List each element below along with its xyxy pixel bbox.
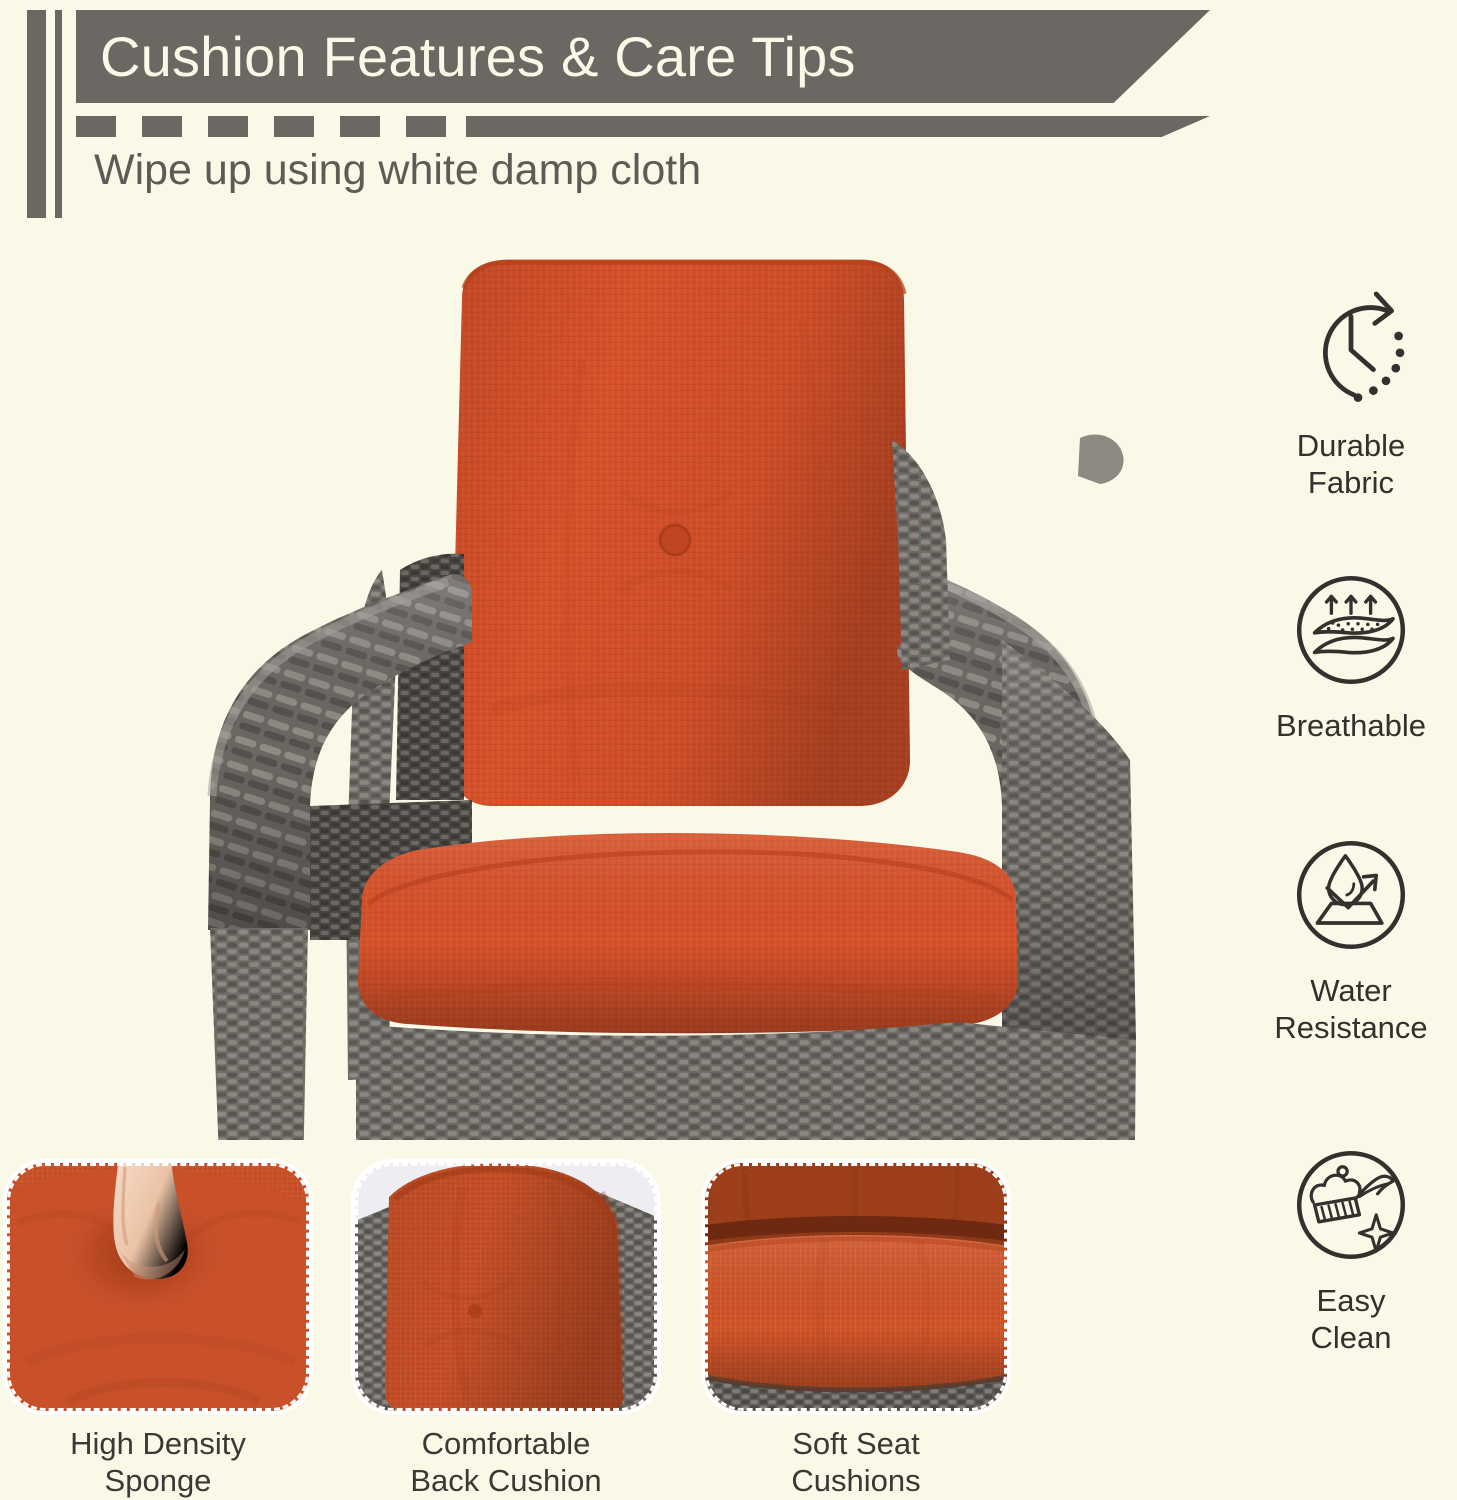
thumbnail-image bbox=[355, 1163, 657, 1411]
rule-dash bbox=[340, 116, 380, 137]
feature-label: Breathable bbox=[1276, 708, 1426, 745]
header-dashed-rule bbox=[76, 116, 1210, 137]
chair-base-skirt bbox=[356, 1022, 1136, 1140]
feature-icon-list: Durable Fabric bbox=[1245, 280, 1457, 1440]
page-subtitle: Wipe up using white damp cloth bbox=[94, 147, 701, 194]
feature-label: Durable Fabric bbox=[1297, 428, 1406, 501]
page-header: Cushion Features & Care Tips Wipe up usi… bbox=[0, 0, 1457, 240]
feature-item-breathable: Breathable bbox=[1245, 560, 1457, 745]
rule-dash bbox=[274, 116, 314, 137]
thumbnail-image bbox=[7, 1163, 309, 1411]
scrub-brush-icon bbox=[1281, 1135, 1421, 1275]
breathable-fabric-icon bbox=[1281, 560, 1421, 700]
thumbnail-row: High Density Sponge bbox=[0, 1163, 1020, 1500]
thumbnail-caption: Comfortable Back Cushion bbox=[336, 1425, 676, 1499]
header-accent-bar-thin bbox=[55, 10, 62, 218]
main-product-image bbox=[150, 240, 1150, 1140]
thumbnail-image bbox=[705, 1163, 1007, 1411]
thumbnail-caption: High Density Sponge bbox=[0, 1425, 328, 1499]
page-title: Cushion Features & Care Tips bbox=[76, 29, 856, 85]
thumbnail-comfortable-back-cushion: Comfortable Back Cushion bbox=[336, 1163, 676, 1499]
feature-item-easy-clean: Easy Clean bbox=[1245, 1135, 1457, 1356]
header-accent-bar-thick bbox=[27, 10, 46, 218]
clock-arrow-icon bbox=[1281, 280, 1421, 420]
thumbnail-soft-seat-cushions: Soft Seat Cushions bbox=[686, 1163, 1026, 1499]
thumbnail-caption: Soft Seat Cushions bbox=[686, 1425, 1026, 1499]
seat-cushion bbox=[358, 833, 1018, 1033]
water-droplet-repel-icon bbox=[1281, 825, 1421, 965]
rule-dash bbox=[142, 116, 182, 137]
rule-dash bbox=[76, 116, 116, 137]
rule-dash bbox=[406, 116, 446, 137]
back-cushion bbox=[450, 260, 910, 806]
feature-item-durable-fabric: Durable Fabric bbox=[1245, 280, 1457, 501]
thumbnail-high-density-sponge: High Density Sponge bbox=[0, 1163, 328, 1499]
feature-label: Easy Clean bbox=[1311, 1283, 1392, 1356]
title-banner: Cushion Features & Care Tips bbox=[76, 10, 1210, 103]
rule-solid-segment bbox=[466, 116, 1210, 137]
rule-dash bbox=[208, 116, 248, 137]
feature-item-water-resistance: Water Resistance bbox=[1245, 825, 1457, 1046]
chair-illustration bbox=[150, 240, 1150, 1140]
feature-label: Water Resistance bbox=[1274, 973, 1427, 1046]
